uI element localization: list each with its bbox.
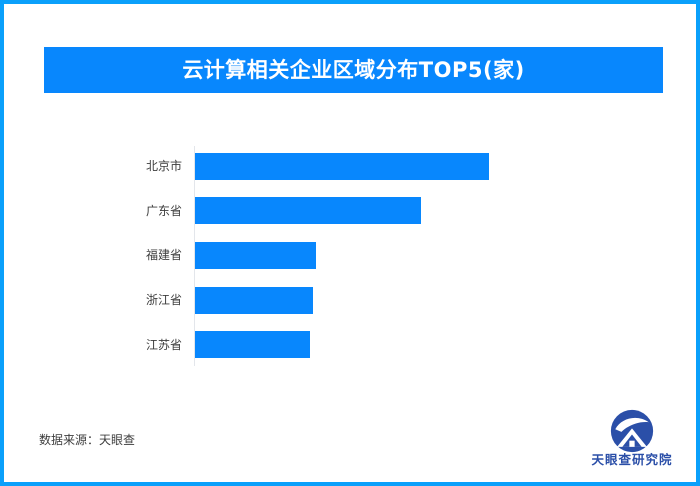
bar-category-label: 江苏省 xyxy=(104,339,182,351)
infographic-canvas: 云计算相关企业区域分布TOP5(家) 北京市 广东省 福建省 xyxy=(0,0,700,486)
bar-category-label: 福建省 xyxy=(104,249,182,261)
bar-track xyxy=(195,233,495,278)
bar-value xyxy=(195,331,310,358)
bar-track xyxy=(195,144,495,189)
bar-track xyxy=(195,322,495,367)
tianyancha-eye-logo-icon xyxy=(610,409,654,453)
brand-logo-text: 天眼查研究院 xyxy=(591,454,672,467)
bar-row: 广东省 xyxy=(4,189,700,234)
bar-category-label: 广东省 xyxy=(104,205,182,217)
bar-series: 北京市 广东省 福建省 浙江省 xyxy=(4,144,700,369)
page-title: 云计算相关企业区域分布TOP5(家) xyxy=(182,60,524,81)
bar-track xyxy=(195,189,495,234)
bar-category-label: 北京市 xyxy=(104,160,182,172)
bar-value xyxy=(195,197,421,224)
bar-chart: 北京市 广东省 福建省 浙江省 xyxy=(4,144,700,369)
bar-value xyxy=(195,287,313,314)
title-banner: 云计算相关企业区域分布TOP5(家) xyxy=(44,47,663,93)
bar-value xyxy=(195,153,489,180)
bar-row: 福建省 xyxy=(4,233,700,278)
brand-logo: 天眼查研究院 xyxy=(580,409,684,475)
bar-row: 浙江省 xyxy=(4,278,700,323)
data-source-note: 数据来源：天眼查 xyxy=(39,434,135,446)
bar-value xyxy=(195,242,316,269)
bar-row: 江苏省 xyxy=(4,322,700,367)
bar-row: 北京市 xyxy=(4,144,700,189)
bar-track xyxy=(195,278,495,323)
bar-category-label: 浙江省 xyxy=(104,294,182,306)
